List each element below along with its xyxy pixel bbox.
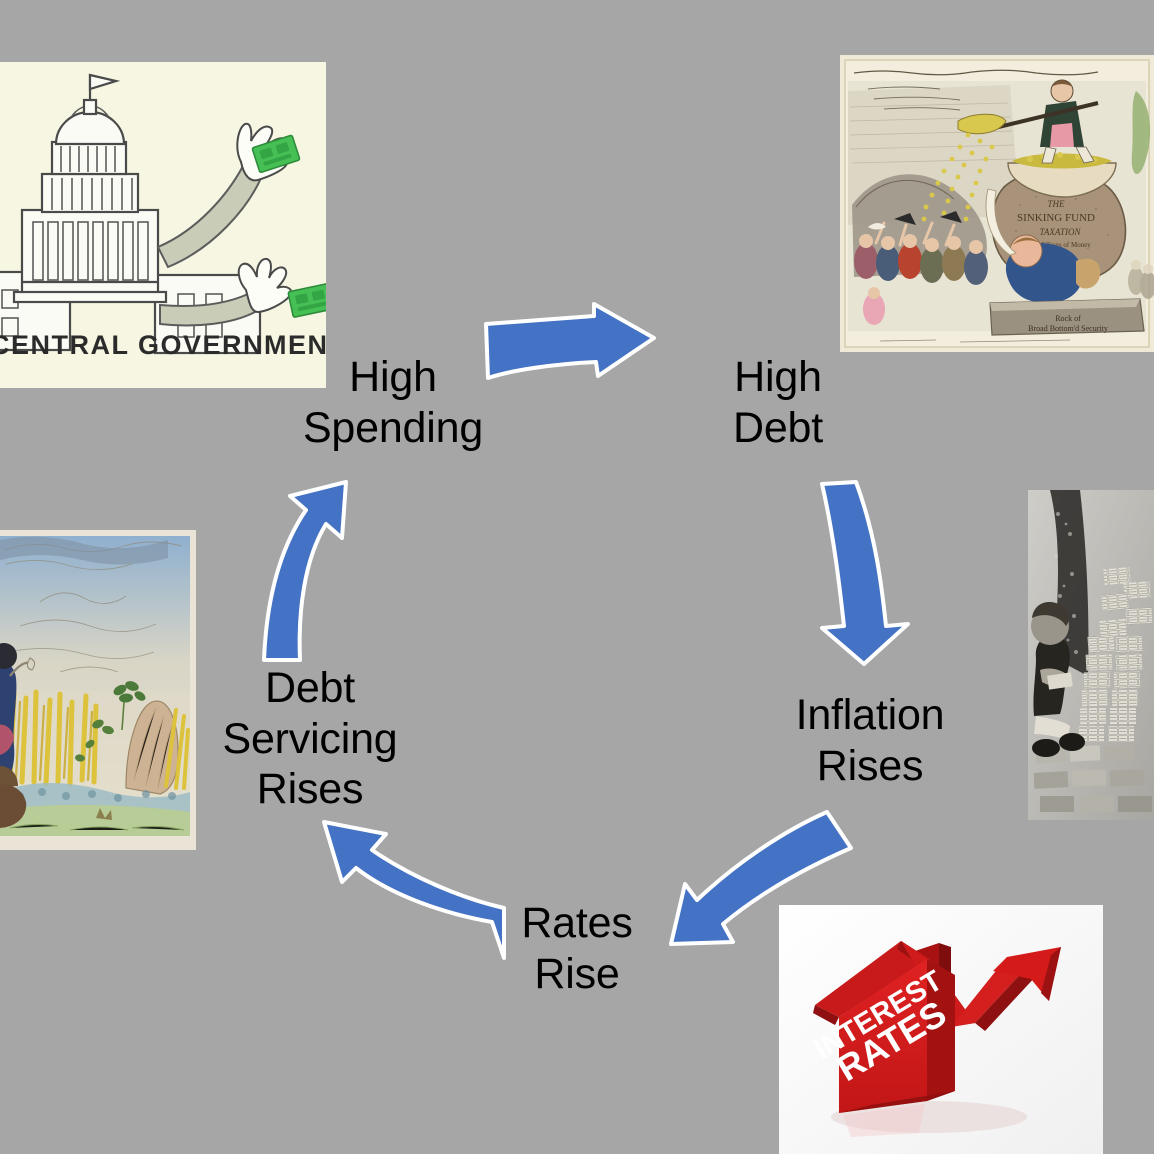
diagram-canvas: CENTRAL GOVERNMENT xyxy=(0,0,1154,1154)
plinth-label-rock: Rock of xyxy=(1055,314,1081,323)
arrow-rates-to-servicing xyxy=(306,812,516,962)
cycle-node-inflation-rises: Inflation Rises xyxy=(770,690,970,791)
arrow-debt-to-inflation xyxy=(786,478,926,668)
image-central-government: CENTRAL GOVERNMENT xyxy=(0,62,326,388)
sinking-fund-label-fund: SINKING FUND xyxy=(1017,212,1095,224)
sinking-fund-label-the: THE xyxy=(1047,199,1065,209)
image-hyperinflation-banknotes xyxy=(1028,490,1154,820)
image-harvest-engraving xyxy=(0,530,196,850)
arrow-spending-to-debt xyxy=(482,312,667,392)
sinking-fund-label-taxation: TAXATION xyxy=(1039,227,1081,237)
image-john-bull-sinking-fund: THE SINKING FUND TAXATION 60 Millions of… xyxy=(840,55,1154,352)
arrow-inflation-to-rates xyxy=(655,808,855,958)
cycle-node-debt-servicing: Debt Servicing Rises xyxy=(202,663,418,815)
cycle-node-rates-rise: Rates Rise xyxy=(500,898,654,999)
arrow-servicing-to-spending xyxy=(250,484,370,664)
cycle-node-high-spending: High Spending xyxy=(295,352,491,453)
plinth-label-security: Broad Bottom'd Security xyxy=(1028,324,1108,333)
cycle-node-high-debt: High Debt xyxy=(688,352,868,453)
central-government-caption: CENTRAL GOVERNMENT xyxy=(0,330,326,360)
